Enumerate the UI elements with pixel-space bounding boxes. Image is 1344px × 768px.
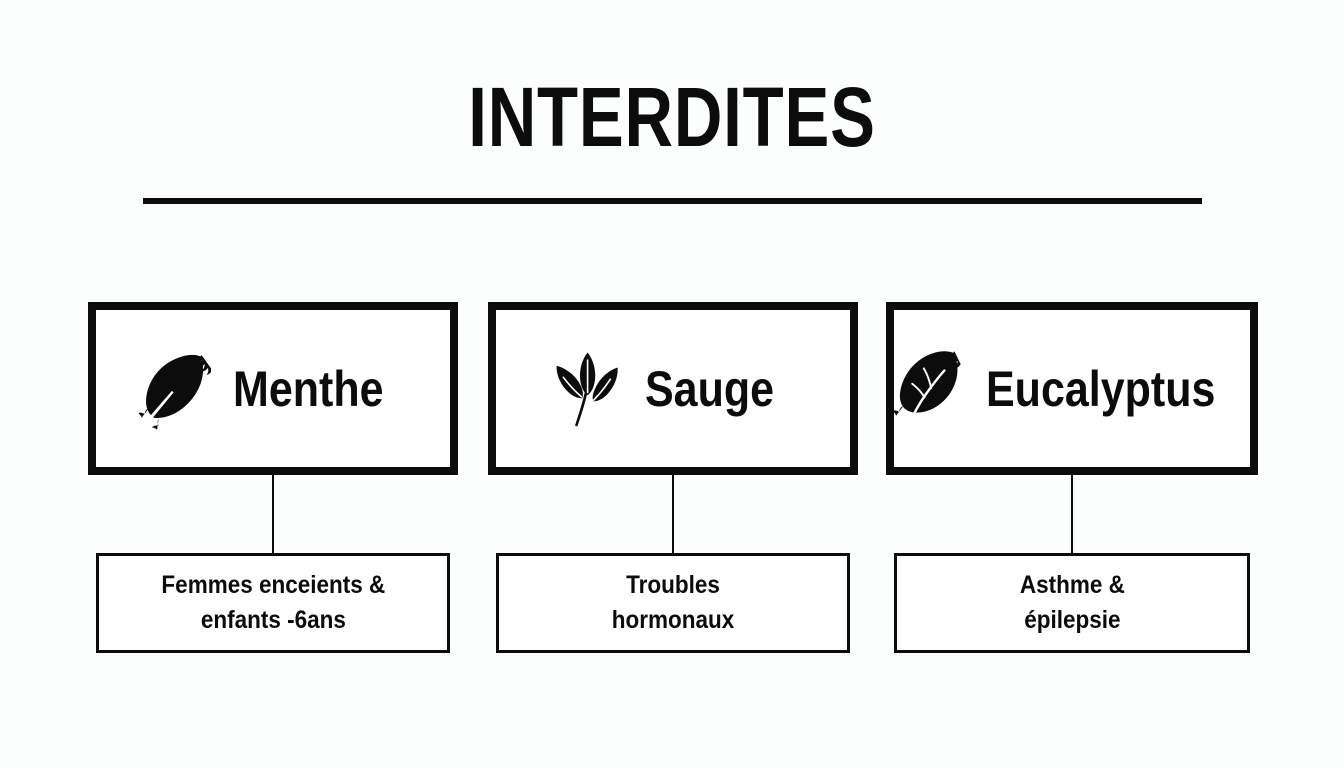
plant-name-eucalyptus: Eucalyptus [986, 364, 1215, 414]
plant-columns: Menthe Femmes enceients & enfants -6ans [88, 302, 1258, 662]
plant-column-menthe: Menthe Femmes enceients & enfants -6ans [88, 302, 458, 475]
caption-text-menthe: Femmes enceients & enfants -6ans [161, 568, 385, 639]
caption-box-menthe: Femmes enceients & enfants -6ans [96, 553, 450, 653]
mint-leaf-icon [139, 346, 211, 432]
connector-line-menthe [272, 475, 274, 553]
plant-column-sauge: Sauge Troubles hormonaux [488, 302, 858, 475]
caption-box-sauge: Troubles hormonaux [496, 553, 850, 653]
plant-name-sauge: Sauge [645, 364, 774, 414]
caption-box-eucalyptus: Asthme & épilepsie [894, 553, 1250, 653]
sage-sprig-icon [551, 346, 623, 432]
plant-column-eucalyptus: Eucalyptus Asthme & épilepsie [886, 302, 1258, 475]
title-block: INTERDITES [0, 78, 1344, 158]
slide-root: INTERDITES Menthe Femmes enceients & enf [0, 0, 1344, 768]
plant-name-menthe: Menthe [233, 364, 384, 414]
eucalyptus-leaf-icon [892, 346, 964, 432]
plant-card-sauge[interactable]: Sauge [488, 302, 858, 475]
connector-line-sauge [672, 475, 674, 553]
caption-text-sauge: Troubles hormonaux [612, 568, 735, 639]
title-divider [143, 198, 1202, 204]
caption-text-eucalyptus: Asthme & épilepsie [1019, 568, 1124, 639]
page-title: INTERDITES [134, 78, 1209, 158]
plant-card-menthe[interactable]: Menthe [88, 302, 458, 475]
plant-card-eucalyptus[interactable]: Eucalyptus [886, 302, 1258, 475]
connector-line-eucalyptus [1071, 475, 1073, 553]
